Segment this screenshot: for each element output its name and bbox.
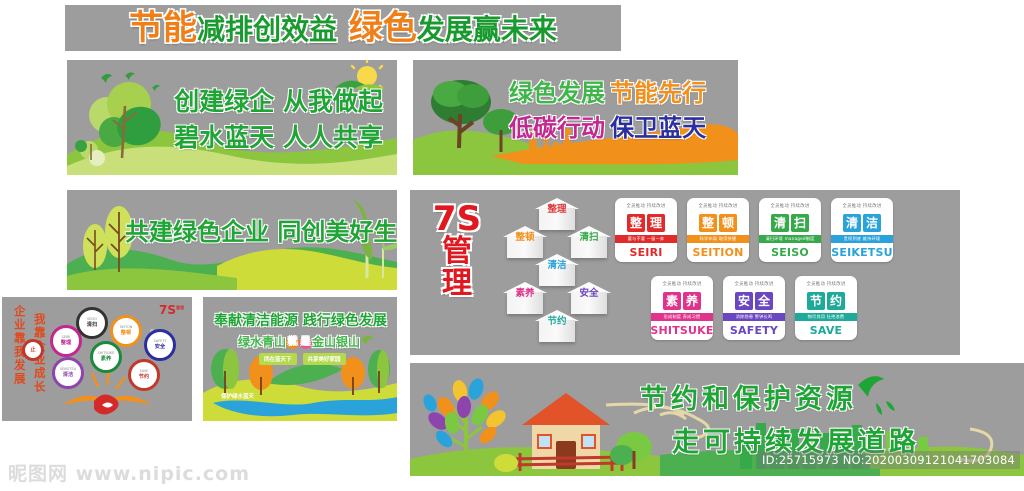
panel6-subline: 绿水青山就是金山银山 [238, 333, 360, 350]
card-band: 贯彻到底 维持环境 [831, 235, 893, 243]
panel2-row-1: 绿色发展 节能先行 [509, 76, 706, 111]
cube-6: 节约 [535, 310, 579, 344]
watermark-site: 昵图网 www.nipic.com [8, 459, 250, 486]
cube-label: 安全 [567, 289, 611, 299]
panel1-line-2: 碧水蓝天 人人共享 [174, 120, 383, 156]
card-header: 全员推动 持续改进 [759, 198, 821, 211]
badge-label: 素养 [101, 357, 111, 362]
card-char-2: 顿 [719, 214, 737, 232]
card-chinese: 节约 [795, 289, 857, 313]
card-romaji: SEIKETSU [831, 243, 893, 262]
7s-card-grid: 全员推动 持续改进整理要与不要 一留一弃SEIRI全员推动 持续改进整顿科学布局… [615, 198, 953, 348]
panel3-line-1: 共建绿色企业 同创美好生活 [125, 212, 397, 247]
panel6-tag-2: 共享美好家园 [303, 353, 346, 365]
panel6-sub-b: 金山银山 [312, 335, 360, 349]
badge-label: 节约 [139, 375, 149, 380]
badge-label: 安全 [155, 345, 165, 350]
card-band: 要与不要 一留一弃 [615, 235, 677, 243]
card-seiketsu: 全员推动 持续改进清洁贯彻到底 维持环境SEIKETSU [831, 198, 893, 262]
panel-enterprise-growth: 企业靠我发展 我靠企业成长 7S管理 SEISO清扫SEITON整顿SAFETY… [2, 297, 192, 421]
panel-green-development: 绿色发展 节能先行 低碳行动 保卫蓝天 [413, 60, 738, 175]
badge-6: SAVE节约 [128, 359, 160, 391]
card-header: 全员推动 持续改进 [831, 198, 893, 211]
card-chinese: 清洁 [831, 211, 893, 235]
card-romaji: SEITION [687, 243, 749, 262]
card-char-2: 全 [755, 292, 773, 310]
badge-label: 清洁 [63, 373, 73, 378]
panel6-tag-group: 同在蓝天下 共享美好家园 [259, 353, 346, 365]
panel5-7s-logo-sub: 管理 [176, 305, 184, 310]
card-chinese: 整理 [615, 211, 677, 235]
panel5-7s-logo-text: 7S [159, 303, 176, 317]
panel-clean-energy: 奉献清洁能源 践行绿色发展 绿水青山就是金山银山 同在蓝天下 共享美好家园 保护… [203, 297, 397, 421]
panel6-sub-hl1: 就 [286, 336, 299, 349]
card-char-2: 扫 [791, 214, 809, 232]
panel2-r1-b: 节能先行 [610, 79, 706, 107]
badge-2: SAFETY安全 [144, 329, 176, 361]
card-header: 全员推动 持续改进 [795, 276, 857, 289]
7s-title: 7S 管 理 [422, 202, 492, 299]
card-char-2: 养 [683, 292, 701, 310]
panel6-tag-1: 同在蓝天下 [259, 353, 297, 365]
badge-label: 清扫 [87, 323, 97, 328]
card-chinese: 清扫 [759, 211, 821, 235]
title-seg-4: 发展赢未来 [417, 13, 557, 46]
cube-label: 素养 [503, 289, 547, 299]
card-romaji: SEISO [759, 243, 821, 262]
panel6-caption: 保护绿水蓝天 [221, 392, 254, 400]
card-save: 全员推动 持续改进节约物尽其用 杜绝浪费SAVE [795, 276, 857, 340]
badge-label: 整理 [61, 341, 71, 346]
badge-1: SEITON整顿 [110, 315, 142, 347]
card-chinese: 整顿 [687, 211, 749, 235]
card-seiso: 全员推动 持续改进清扫清扫环境 managed制度SEISO [759, 198, 821, 262]
title-seg-3: 绿色 [337, 8, 417, 48]
card-header: 全员推动 持续改进 [687, 198, 749, 211]
badge-7: 止 [22, 339, 44, 361]
card-char-1: 清 [843, 214, 861, 232]
badge-label: 止 [30, 348, 35, 353]
card-band: 科学布局 取用快捷 [687, 235, 749, 243]
card-romaji: SHITSUKE [651, 321, 713, 340]
cube-label: 清洁 [535, 261, 579, 271]
panel2-row-2: 低碳行动 保卫蓝天 [509, 111, 706, 146]
panel1-text-block: 创建绿企 从我做起 碧水蓝天 人人共享 [174, 84, 383, 157]
card-band: 形成制度 养成习惯 [651, 313, 713, 321]
card-char-1: 整 [699, 214, 717, 232]
badge-5: SEIKETSU清洁 [52, 357, 84, 389]
panel2-r1-a: 绿色发展 [509, 79, 605, 107]
panel6-sub-hl2: 是 [299, 336, 312, 349]
panel7-line-1: 节约和保护资源 [640, 377, 857, 416]
card-band: 消除隐患 警钟长鸣 [723, 313, 785, 321]
panel6-headline: 奉献清洁能源 践行绿色发展 [214, 310, 387, 330]
7s-title-char-2: 理 [422, 268, 492, 300]
card-char-1: 整 [627, 214, 645, 232]
card-romaji: SAVE [795, 321, 857, 340]
watermark-id: ID:25715973 NO:20200309121041703084 [757, 451, 1020, 469]
card-romaji: SEIRI [615, 243, 677, 262]
panel-7s-management: 7S 管 理 整理整顿清扫清洁素养安全节约 全员推动 持续改进整理要与不要 一留… [410, 190, 960, 355]
card-header: 全员推动 持续改进 [723, 276, 785, 289]
card-band: 清扫环境 managed制度 [759, 235, 821, 243]
badge-label: 整顿 [121, 331, 131, 336]
card-safety: 全员推动 持续改进安全消除隐患 警钟长鸣SAFETY [723, 276, 785, 340]
cube-label: 整顿 [503, 233, 547, 243]
7s-cube-diagram: 整理整顿清扫清洁素养安全节约 [495, 198, 620, 348]
panel5-7s-logo: 7S管理 [159, 303, 184, 317]
card-header: 全员推动 持续改进 [651, 276, 713, 289]
title-seg-1: 节能 [129, 8, 197, 48]
panel2-text-block: 绿色发展 节能先行 低碳行动 保卫蓝天 [509, 76, 706, 146]
panel-create-green-enterprise: 创建绿企 从我做起 碧水蓝天 人人共享 [67, 60, 397, 175]
panel-build-green-company: 共建绿色企业 同创美好生活 [67, 190, 397, 290]
card-char-2: 约 [827, 292, 845, 310]
card-romaji: SAFETY [723, 321, 785, 340]
card-char-1: 素 [663, 292, 681, 310]
cube-label: 整理 [535, 205, 579, 215]
poster-canvas: 节能减排创效益 绿色发展赢未来 [0, 0, 1024, 491]
badge-4: SHITSUKE素养 [90, 341, 122, 373]
panel2-r2-a: 低碳行动 [509, 114, 605, 142]
title-text: 节能减排创效益 绿色发展赢未来 [129, 11, 557, 45]
panel6-sub-a: 绿水青山 [238, 335, 286, 349]
card-char-1: 节 [807, 292, 825, 310]
title-seg-2: 减排创效益 [197, 13, 337, 46]
title-banner: 节能减排创效益 绿色发展赢未来 [65, 5, 621, 51]
badge-3: SEIRI整理 [50, 325, 82, 357]
card-char-2: 理 [647, 214, 665, 232]
card-header: 全员推动 持续改进 [615, 198, 677, 211]
card-chinese: 素养 [651, 289, 713, 313]
panel2-r2-b: 保卫蓝天 [610, 114, 706, 142]
card-seiri: 全员推动 持续改进整理要与不要 一留一弃SEIRI [615, 198, 677, 262]
card-char-1: 安 [735, 292, 753, 310]
7s-title-top: 7S [422, 202, 492, 236]
card-seition: 全员推动 持续改进整顿科学布局 取用快捷SEITION [687, 198, 749, 262]
panel3-text-block: 共建绿色企业 同创美好生活 [125, 212, 397, 247]
card-char-2: 洁 [863, 214, 881, 232]
cube-label: 清扫 [567, 233, 611, 243]
7s-title-char-1: 管 [422, 236, 492, 268]
card-shitsuke: 全员推动 持续改进素养形成制度 养成习惯SHITSUKE [651, 276, 713, 340]
panel1-line-1: 创建绿企 从我做起 [174, 84, 383, 120]
card-char-1: 清 [771, 214, 789, 232]
card-chinese: 安全 [723, 289, 785, 313]
card-band: 物尽其用 杜绝浪费 [795, 313, 857, 321]
cube-label: 节约 [535, 317, 579, 327]
